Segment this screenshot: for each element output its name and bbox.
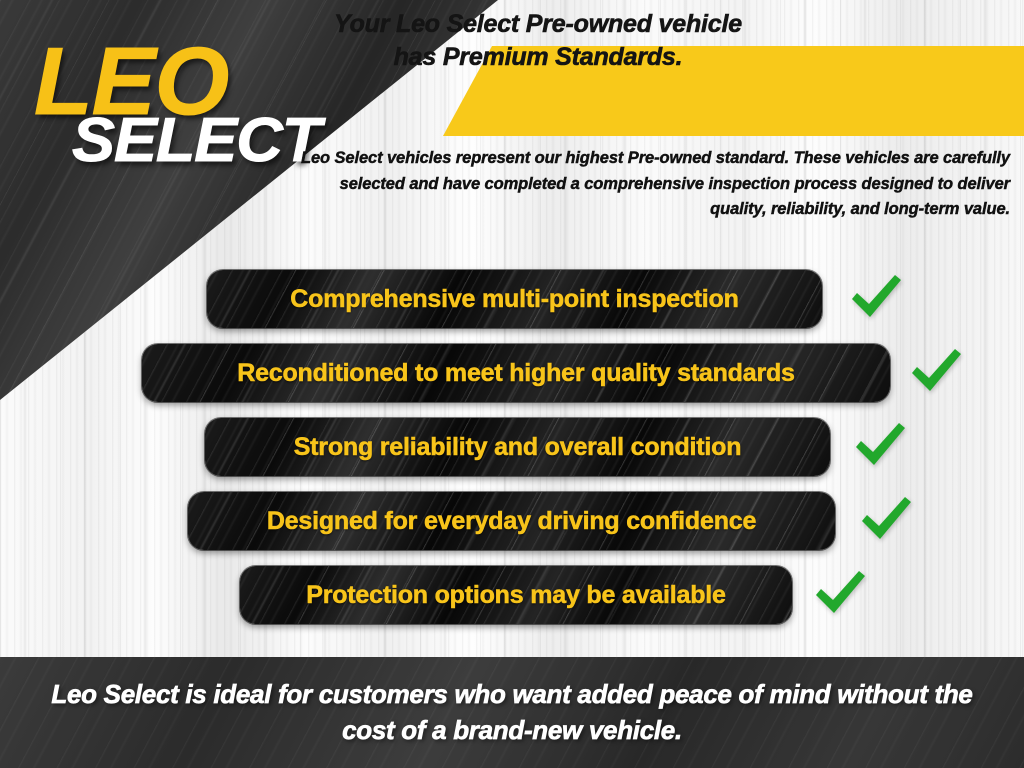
feature-label: Comprehensive multi-point inspection [290, 285, 738, 314]
feature-row: Protection options may be available [0, 558, 1024, 632]
footer-text: Leo Select is ideal for customers who wa… [47, 677, 977, 747]
feature-list: Comprehensive multi-point inspectionReco… [0, 262, 1024, 632]
feature-row: Designed for everyday driving confidence [0, 484, 1024, 558]
check-icon [852, 420, 908, 472]
headline-text: Your Leo Select Pre-owned vehicle has Pr… [60, 8, 1016, 74]
check-icon [858, 494, 914, 546]
feature-pill: Strong reliability and overall condition [205, 418, 830, 476]
feature-pill: Reconditioned to meet higher quality sta… [142, 344, 890, 402]
feature-row: Strong reliability and overall condition [0, 410, 1024, 484]
feature-row: Comprehensive multi-point inspection [0, 262, 1024, 336]
check-icon [908, 346, 964, 398]
check-icon [848, 272, 904, 324]
feature-label: Reconditioned to meet higher quality sta… [237, 359, 795, 388]
feature-label: Strong reliability and overall condition [294, 433, 742, 462]
check-icon [812, 568, 868, 620]
leo-select-poster: LEO SELECT Your Leo Select Pre-owned veh… [0, 0, 1024, 768]
description-paragraph: Leo Select vehicles represent our highes… [300, 146, 1010, 223]
feature-label: Protection options may be available [306, 581, 726, 610]
feature-label: Designed for everyday driving confidence [267, 507, 756, 536]
headline-line-1: Your Leo Select Pre-owned vehicle [60, 8, 1016, 41]
feature-row: Reconditioned to meet higher quality sta… [0, 336, 1024, 410]
footer-bar: Leo Select is ideal for customers who wa… [0, 657, 1024, 768]
feature-pill: Protection options may be available [240, 566, 792, 624]
headline-line-2: has Premium Standards. [60, 41, 1016, 74]
logo-text-select: SELECT [72, 110, 320, 172]
feature-pill: Comprehensive multi-point inspection [207, 270, 822, 328]
feature-pill: Designed for everyday driving confidence [188, 492, 835, 550]
